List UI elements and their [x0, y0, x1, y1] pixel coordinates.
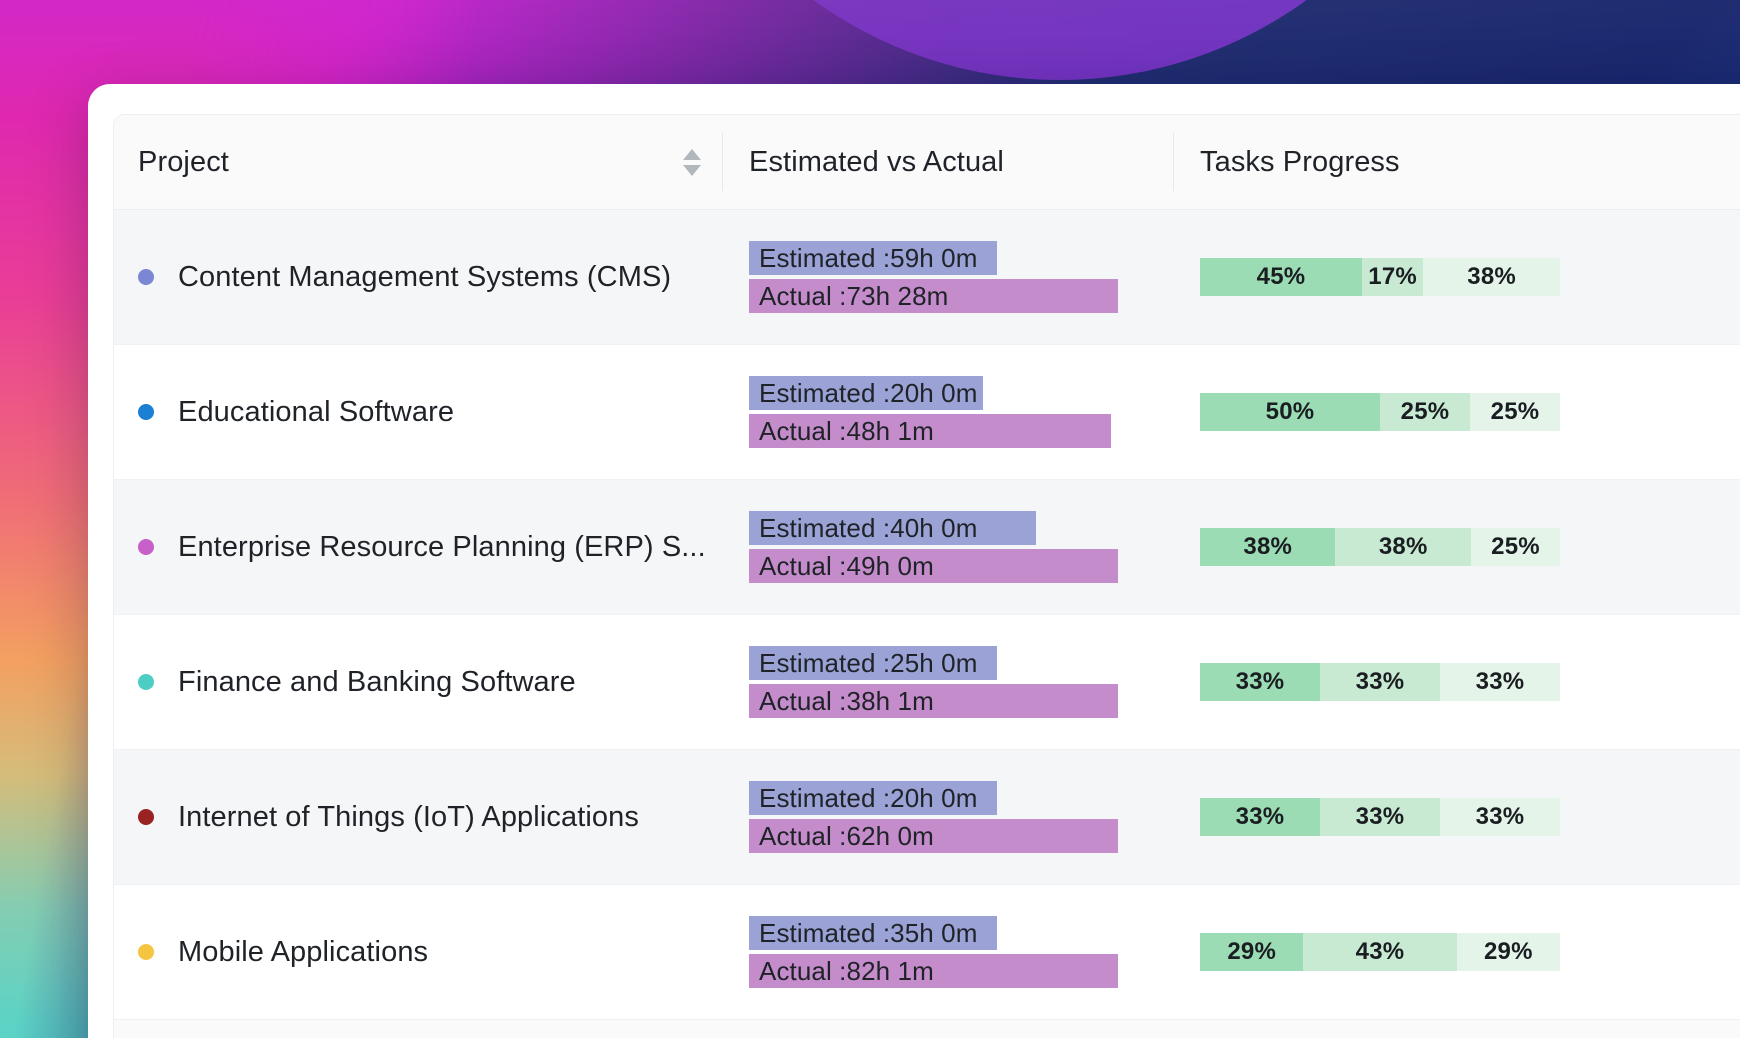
tasks-progress-segment: 43% — [1303, 933, 1456, 971]
project-color-dot-icon — [138, 944, 154, 960]
tasks-progress-segment: 33% — [1200, 663, 1320, 701]
estimated-bar: Estimated :40h 0m — [749, 511, 1036, 545]
tasks-progress-segment: 38% — [1423, 258, 1560, 296]
tasks-progress-segment: 33% — [1440, 663, 1560, 701]
tasks-progress-segment: 25% — [1471, 528, 1560, 566]
table-row[interactable]: Mobile ApplicationsEstimated :35h 0mActu… — [114, 885, 1740, 1020]
project-color-dot-icon — [138, 269, 154, 285]
cell-tasks-progress: 33%33%33% — [1174, 750, 1740, 884]
actual-bar: Actual :62h 0m — [749, 819, 1118, 853]
project-name[interactable]: Mobile Applications — [178, 936, 428, 969]
estimated-bar: Estimated :20h 0m — [749, 781, 997, 815]
cell-estimated-vs-actual: Estimated :20h 0mActual :48h 1m — [723, 345, 1173, 479]
cell-project: Content Management Systems (CMS) — [114, 210, 722, 344]
table-row[interactable]: Finance and Banking SoftwareEstimated :2… — [114, 615, 1740, 750]
tasks-progress-bar[interactable]: 33%33%33% — [1200, 663, 1560, 701]
tasks-progress-segment: 33% — [1320, 798, 1440, 836]
cell-tasks-progress: 29%43%29% — [1174, 885, 1740, 1019]
column-header-tasks-progress[interactable]: Tasks Progress — [1174, 115, 1740, 209]
projects-card: Project Estimated vs Actual Tasks Progre… — [88, 84, 1740, 1038]
column-header-estimated-vs-actual[interactable]: Estimated vs Actual — [723, 115, 1173, 209]
table-row[interactable]: Enterprise Resource Planning (ERP) S...E… — [114, 480, 1740, 615]
cell-project: Internet of Things (IoT) Applications — [114, 750, 722, 884]
tasks-progress-segment: 33% — [1440, 798, 1560, 836]
actual-bar: Actual :82h 1m — [749, 954, 1118, 988]
tasks-progress-segment: 33% — [1320, 663, 1440, 701]
project-color-dot-icon — [138, 674, 154, 690]
cell-project: Finance and Banking Software — [114, 615, 722, 749]
tasks-progress-segment: 25% — [1380, 393, 1470, 431]
tasks-progress-segment: 45% — [1200, 258, 1362, 296]
tasks-progress-segment: 29% — [1200, 933, 1303, 971]
table-header-row: Project Estimated vs Actual Tasks Progre… — [114, 115, 1740, 210]
column-header-estimated-vs-actual-label: Estimated vs Actual — [749, 146, 1004, 179]
tasks-progress-bar[interactable]: 45%17%38% — [1200, 258, 1560, 296]
tasks-progress-segment: 29% — [1457, 933, 1560, 971]
actual-bar: Actual :48h 1m — [749, 414, 1111, 448]
cell-estimated-vs-actual: Estimated :25h 0mActual :38h 1m — [723, 615, 1173, 749]
estimated-bar: Estimated :25h 0m — [749, 646, 997, 680]
estimated-bar: Estimated :35h 0m — [749, 916, 997, 950]
estimated-bar: Estimated :59h 0m — [749, 241, 997, 275]
project-color-dot-icon — [138, 404, 154, 420]
column-header-project-label: Project — [138, 146, 680, 179]
column-header-project[interactable]: Project — [114, 115, 722, 209]
table-body: Content Management Systems (CMS)Estimate… — [114, 210, 1740, 1020]
table-row[interactable]: Content Management Systems (CMS)Estimate… — [114, 210, 1740, 345]
tasks-progress-segment: 33% — [1200, 798, 1320, 836]
tasks-progress-segment: 17% — [1362, 258, 1423, 296]
project-color-dot-icon — [138, 539, 154, 555]
project-name[interactable]: Enterprise Resource Planning (ERP) S... — [178, 531, 706, 564]
column-header-tasks-progress-label: Tasks Progress — [1200, 146, 1400, 179]
cell-project: Educational Software — [114, 345, 722, 479]
project-name[interactable]: Educational Software — [178, 396, 454, 429]
cell-tasks-progress: 33%33%33% — [1174, 615, 1740, 749]
tasks-progress-segment: 25% — [1470, 393, 1560, 431]
actual-bar: Actual :73h 28m — [749, 279, 1118, 313]
table-row[interactable]: Internet of Things (IoT) ApplicationsEst… — [114, 750, 1740, 885]
cell-tasks-progress: 45%17%38% — [1174, 210, 1740, 344]
tasks-progress-bar[interactable]: 50%25%25% — [1200, 393, 1560, 431]
table-row[interactable]: Educational SoftwareEstimated :20h 0mAct… — [114, 345, 1740, 480]
tasks-progress-bar[interactable]: 29%43%29% — [1200, 933, 1560, 971]
tasks-progress-segment: 38% — [1200, 528, 1335, 566]
cell-estimated-vs-actual: Estimated :20h 0mActual :62h 0m — [723, 750, 1173, 884]
cell-project: Enterprise Resource Planning (ERP) S... — [114, 480, 722, 614]
actual-bar: Actual :38h 1m — [749, 684, 1118, 718]
cell-project: Mobile Applications — [114, 885, 722, 1019]
cell-tasks-progress: 38%38%25% — [1174, 480, 1740, 614]
estimated-bar: Estimated :20h 0m — [749, 376, 983, 410]
sort-updown-icon[interactable] — [680, 144, 704, 180]
project-name[interactable]: Internet of Things (IoT) Applications — [178, 801, 639, 834]
cell-estimated-vs-actual: Estimated :35h 0mActual :82h 1m — [723, 885, 1173, 1019]
actual-bar: Actual :49h 0m — [749, 549, 1118, 583]
cell-tasks-progress: 50%25%25% — [1174, 345, 1740, 479]
tasks-progress-segment: 50% — [1200, 393, 1380, 431]
tasks-progress-segment: 38% — [1335, 528, 1470, 566]
cell-estimated-vs-actual: Estimated :59h 0mActual :73h 28m — [723, 210, 1173, 344]
tasks-progress-bar[interactable]: 38%38%25% — [1200, 528, 1560, 566]
project-color-dot-icon — [138, 809, 154, 825]
projects-table-panel: Project Estimated vs Actual Tasks Progre… — [113, 114, 1740, 1038]
project-name[interactable]: Finance and Banking Software — [178, 666, 576, 699]
project-name[interactable]: Content Management Systems (CMS) — [178, 261, 671, 294]
cell-estimated-vs-actual: Estimated :40h 0mActual :49h 0m — [723, 480, 1173, 614]
tasks-progress-bar[interactable]: 33%33%33% — [1200, 798, 1560, 836]
